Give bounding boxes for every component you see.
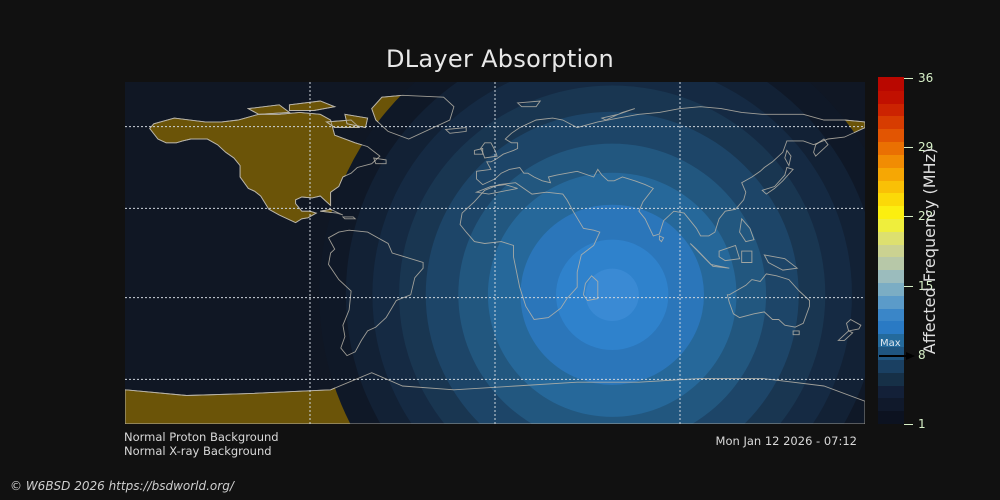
timestamp-label: Mon Jan 12 2026 - 07:12: [716, 434, 857, 448]
colorbar-tick: [904, 216, 913, 217]
colorbar-tick: [904, 147, 913, 148]
max-arrow-icon: [879, 352, 915, 360]
credit-label: © W6BSD 2026 https://bsdworld.org/: [10, 479, 234, 493]
proton-background-note: Normal Proton Background: [124, 430, 279, 444]
colorbar-tick: [904, 424, 913, 425]
colorbar-tick: [904, 286, 913, 287]
absorption-band: [586, 269, 639, 321]
colorbar-axis-label: Affected Frequency (MHz): [916, 78, 942, 424]
world-map[interactable]: [125, 82, 865, 424]
colorbar-tick: [904, 78, 913, 79]
xray-background-note: Normal X-ray Background: [124, 444, 272, 458]
absorption-contour-layer: [319, 82, 865, 424]
map-canvas: [125, 82, 865, 424]
max-marker-label: Max: [880, 338, 901, 349]
page-title: DLayer Absorption: [0, 45, 1000, 73]
dlayer-absorption-figure: DLayer Absorption 1815222936 Max Affecte…: [0, 0, 1000, 500]
